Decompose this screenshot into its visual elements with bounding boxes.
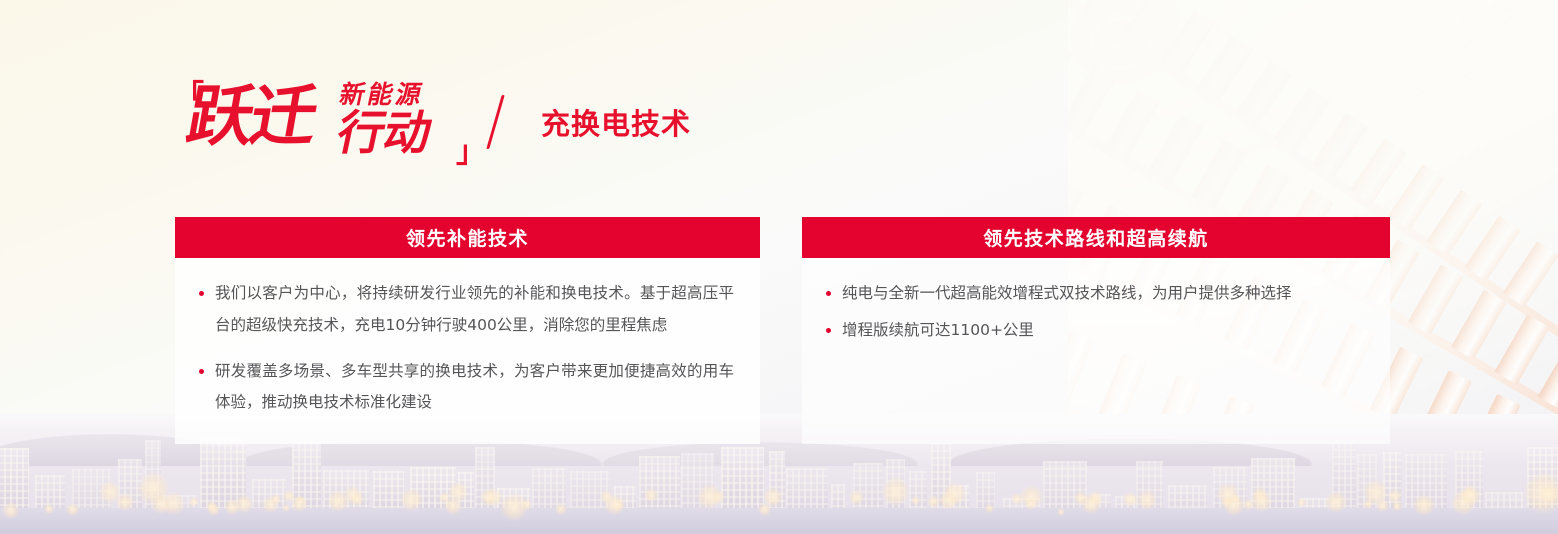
- slash-divider-icon: [486, 95, 504, 149]
- list-item: 研发覆盖多场景、多车型共享的换电技术，为客户带来更加便捷高效的用车体验，推动换电…: [197, 356, 734, 420]
- feature-bullet-list: 我们以客户为中心，将持续研发行业领先的补能和换电技术。基于超高压平台的超级快充技…: [197, 278, 734, 419]
- bracket-close-mark: 」: [456, 138, 486, 168]
- feature-card-title: 领先技术路线和超高续航: [802, 217, 1390, 258]
- banner-header: 「 跃迁 新能源 行动 」 充换电技术: [172, 74, 691, 170]
- feature-bullet-list: 纯电与全新一代超高能效增程式双技术路线，为用户提供多种选择 增程版续航可达110…: [824, 278, 1364, 346]
- feature-card-title: 领先补能技术: [175, 217, 760, 258]
- feature-card-body: 纯电与全新一代超高能效增程式双技术路线，为用户提供多种选择 增程版续航可达110…: [802, 258, 1390, 444]
- list-item: 纯电与全新一代超高能效增程式双技术路线，为用户提供多种选择: [824, 278, 1364, 309]
- feature-card: 领先补能技术 我们以客户为中心，将持续研发行业领先的补能和换电技术。基于超高压平…: [175, 217, 760, 444]
- feature-card-body: 我们以客户为中心，将持续研发行业领先的补能和换电技术。基于超高压平台的超级快充技…: [175, 258, 760, 444]
- brand-logo-action: 行动: [333, 110, 435, 157]
- feature-card: 领先技术路线和超高续航 纯电与全新一代超高能效增程式双技术路线，为用户提供多种选…: [802, 217, 1390, 444]
- brand-logo-main: 跃迁: [182, 84, 320, 150]
- list-item: 增程版续航可达1100+公里: [824, 315, 1364, 346]
- hero-banner: 「 跃迁 新能源 行动 」 充换电技术 领先补能技术 我们以客户为中心，将持续研…: [0, 0, 1558, 534]
- brand-logo: 「 跃迁 新能源 行动 」: [172, 76, 472, 168]
- list-item: 我们以客户为中心，将持续研发行业领先的补能和换电技术。基于超高压平台的超级快充技…: [197, 278, 734, 342]
- feature-card-list: 领先补能技术 我们以客户为中心，将持续研发行业领先的补能和换电技术。基于超高压平…: [175, 217, 1390, 444]
- brand-logo-sub: 新能源: [337, 82, 426, 107]
- page-title: 充换电技术: [541, 101, 691, 143]
